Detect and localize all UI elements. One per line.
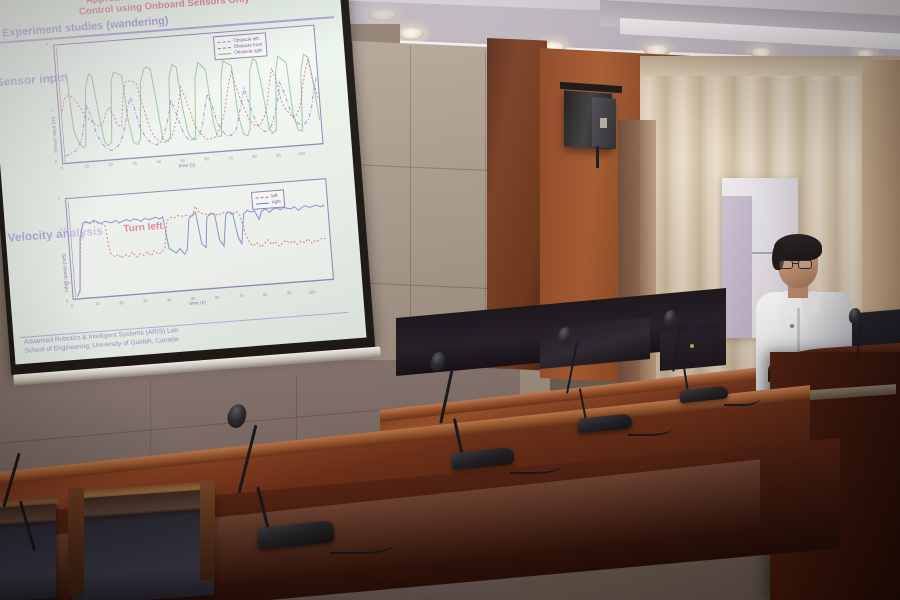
glasses-icon bbox=[798, 260, 812, 269]
legend-swatch-icon bbox=[217, 41, 230, 43]
microphone-cable bbox=[510, 456, 562, 474]
chart2-xtick: 20 bbox=[119, 300, 124, 305]
chart1-ytick: 0 bbox=[55, 159, 58, 164]
chart2-xtick: 50 bbox=[191, 296, 196, 301]
chart1-ytick: 2 bbox=[48, 75, 51, 80]
chart2-xtick: 0 bbox=[71, 303, 74, 308]
chart1-xtick: 80 bbox=[252, 153, 257, 158]
chart-axis-lines bbox=[56, 28, 322, 163]
downlight-icon bbox=[368, 10, 398, 21]
cabinet-door bbox=[722, 196, 752, 338]
projection-screen: Approach to Mobile Robot Motion Control … bbox=[0, 0, 376, 389]
chart2-ytick: 1 bbox=[62, 254, 65, 259]
chart1-ytick: 4 bbox=[46, 41, 49, 46]
chart1-xtick: 10 bbox=[84, 163, 89, 168]
chart1-legend: Obstacle left Obstacle front Obstacle ri… bbox=[213, 32, 267, 60]
presentation-room-photo: Approach to Mobile Robot Motion Control … bbox=[0, 0, 900, 600]
glasses-bridge bbox=[793, 263, 799, 264]
chart-sensor-input bbox=[53, 25, 323, 165]
microphone-cable bbox=[628, 420, 672, 436]
rear-equipment-box bbox=[660, 327, 726, 371]
chart1-xtick: 90 bbox=[276, 153, 281, 158]
chair-armrest bbox=[200, 480, 215, 580]
chart2-ytick: 0 bbox=[66, 298, 69, 303]
chart2-xtick: 100 bbox=[309, 289, 316, 294]
chart2-xtick: 90 bbox=[287, 290, 292, 295]
chart-sensor-input-plot bbox=[54, 26, 324, 166]
lapel-mic-icon bbox=[790, 324, 794, 328]
chart2-legend: left right bbox=[251, 189, 285, 209]
slide-content: Approach to Mobile Robot Motion Control … bbox=[0, 0, 366, 365]
chart2-xtick: 60 bbox=[215, 295, 220, 300]
chart1-xtick: 100 bbox=[298, 151, 305, 156]
slide-footer-rule bbox=[19, 311, 348, 338]
equipment-led-icon bbox=[690, 344, 694, 348]
legend-swatch-icon bbox=[256, 202, 269, 204]
curtain-edge-left bbox=[618, 120, 656, 410]
chart-robot-speed-plot bbox=[66, 179, 335, 301]
chart1-ytick: 1 bbox=[51, 107, 54, 112]
chart2-xtick: 70 bbox=[239, 293, 244, 298]
legend-swatch-icon bbox=[255, 196, 268, 198]
downlight-icon bbox=[398, 28, 424, 40]
microphone-cable bbox=[330, 532, 396, 554]
screen-surface: Approach to Mobile Robot Motion Control … bbox=[0, 0, 366, 365]
chart1-xtick: 50 bbox=[180, 158, 185, 163]
chart1-xtick: 30 bbox=[132, 161, 137, 166]
legend-swatch-icon bbox=[218, 53, 231, 55]
legend-item: right bbox=[256, 199, 281, 207]
chart2-ytick: 0.5 bbox=[64, 280, 70, 285]
wall-speaker-stem bbox=[596, 146, 599, 168]
chair bbox=[0, 504, 56, 600]
microphone-cable bbox=[724, 392, 760, 406]
chart1-xtick: 70 bbox=[228, 155, 233, 160]
legend-swatch-icon bbox=[218, 47, 231, 49]
legend-label: right bbox=[272, 199, 281, 206]
series-obstacle-front bbox=[61, 77, 321, 156]
series-left bbox=[71, 196, 329, 296]
chart-robot-speed bbox=[65, 178, 334, 300]
chart2-ytick: 1.5 bbox=[60, 226, 66, 231]
chart2-xtick: 10 bbox=[95, 301, 100, 306]
chair bbox=[72, 489, 214, 600]
chart2-xtick: 80 bbox=[263, 292, 268, 297]
chart1-xtick: 60 bbox=[204, 156, 209, 161]
chart2-ytick: 2 bbox=[58, 196, 61, 201]
legend-label: Obstacle right bbox=[234, 48, 263, 56]
wall-speaker-label bbox=[600, 118, 607, 128]
chart1-xtick: 20 bbox=[108, 161, 113, 166]
chair-armrest bbox=[68, 488, 84, 596]
glasses-icon bbox=[779, 260, 793, 269]
chart2-xtick: 40 bbox=[167, 297, 172, 302]
chart2-xtick: 30 bbox=[143, 298, 148, 303]
chart1-xtick: 40 bbox=[156, 159, 161, 164]
chart1-xtick: 0 bbox=[60, 165, 63, 170]
